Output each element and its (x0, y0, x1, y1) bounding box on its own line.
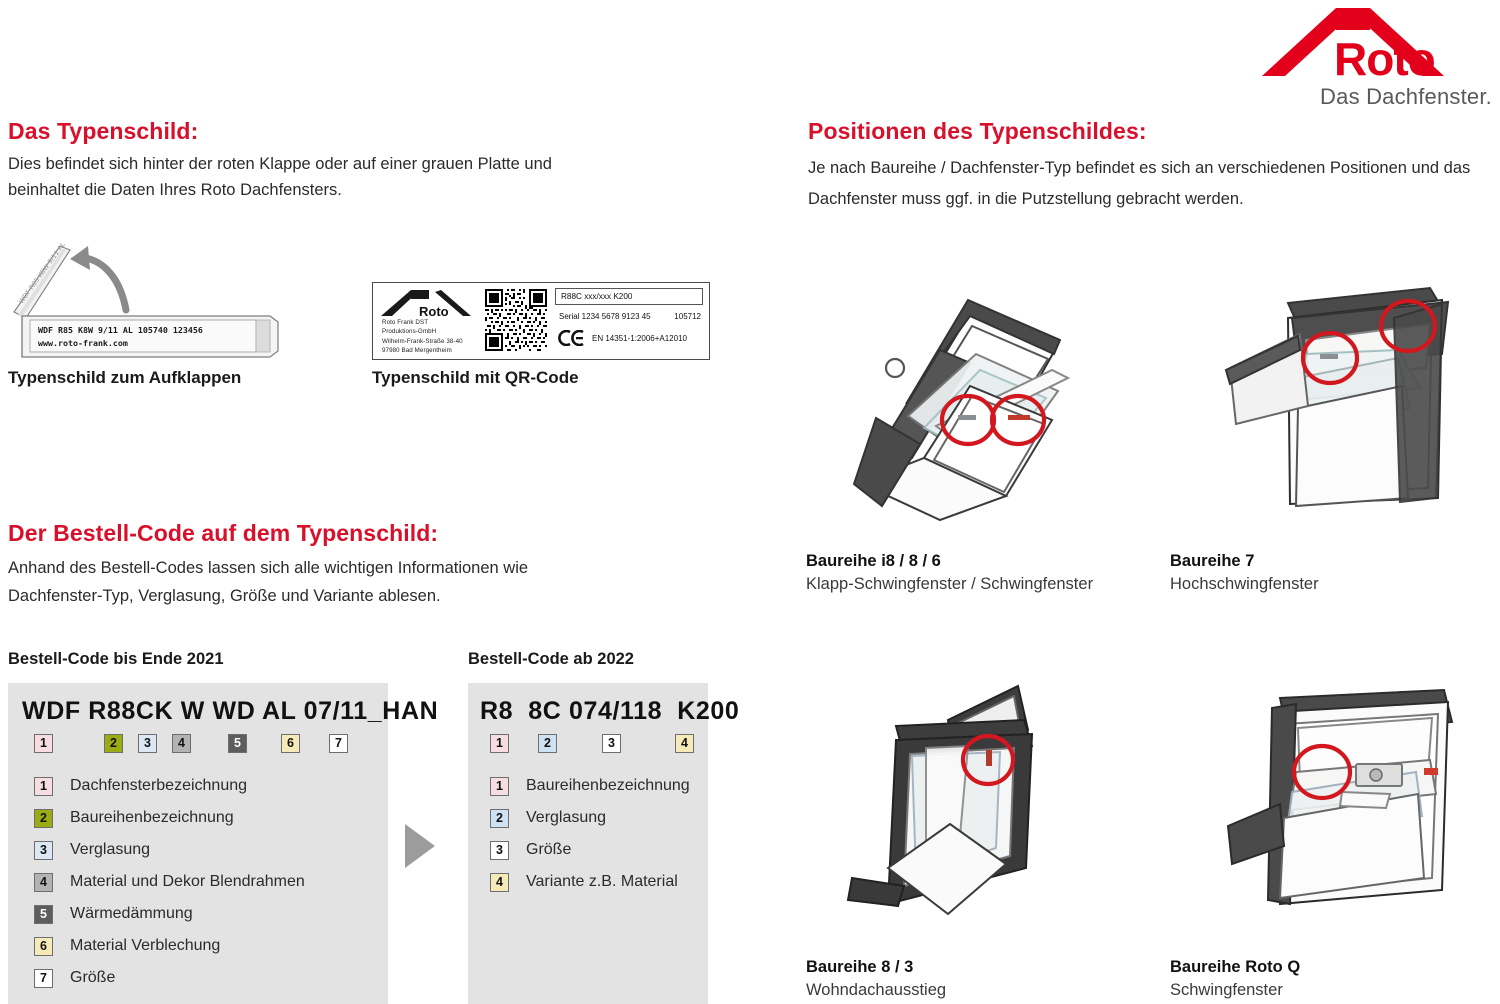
order-code-new-panel: R8 8C 074/118 K200 1234 1Baureihenbezeic… (468, 683, 708, 1004)
foldout-line2: www.roto-frank.com (38, 338, 128, 348)
qr-code-icon (485, 289, 547, 351)
photo-caption-3-title: Baureihe 8 / 3 (806, 958, 946, 977)
legend-label: Variante z.B. Material (526, 873, 678, 891)
legend-row: 3Verglasung (34, 834, 305, 866)
legend-row: 1Dachfensterbezeichnung (34, 770, 305, 802)
order-code-new-string: R8 8C 074/118 K200 (480, 697, 739, 726)
svg-text:WDF R85 K8W 9/11 AL: WDF R85 K8W 9/11 AL (17, 241, 67, 306)
legend-row: 6Material Verblechung (34, 930, 305, 962)
qr-plate-serial-number: 105712 (674, 312, 701, 321)
photo-caption-4-subtitle: Schwingfenster (1170, 981, 1300, 1000)
foldout-caption: Typenschild zum Aufklappen (8, 368, 241, 388)
legend-row: 4Variante z.B. Material (490, 866, 690, 898)
legend-label: Größe (70, 969, 115, 987)
qr-plate-caption: Typenschild mit QR-Code (372, 368, 579, 388)
legend-label: Verglasung (526, 809, 606, 827)
order-code-old-legend: 1Dachfensterbezeichnung2Baureihenbezeich… (34, 770, 305, 994)
legend-row: 2Verglasung (490, 802, 690, 834)
legend-badge-3: 3 (34, 841, 53, 860)
legend-badge-3: 3 (490, 841, 509, 860)
legend-badge-5: 5 (34, 905, 53, 924)
order-code-new-label: Bestell-Code ab 2022 (468, 650, 634, 669)
code-badge-6: 6 (281, 734, 300, 753)
legend-badge-6: 6 (34, 937, 53, 956)
foldout-nameplate-illustration: WDF R85 K8W 9/11 AL WDF R85 K8W 9/11 AL … (8, 238, 288, 368)
code-badge-3: 3 (138, 734, 157, 753)
photo-caption-1: Baureihe i8 / 8 / 6 Klapp-Schwingfenster… (806, 552, 1093, 594)
typenschild-paragraph: Dies befindet sich hinter der roten Klap… (8, 152, 608, 203)
ce-mark-icon (558, 330, 585, 346)
foldout-line1: WDF R85 K8W 9/11 AL 105740 123456 (38, 325, 203, 335)
legend-label: Material Verblechung (70, 937, 220, 955)
qr-nameplate-illustration: Roto Roto Frank DST Produktions-GmbH Wil… (372, 282, 710, 360)
window-photo-i8-8-6 (820, 258, 1110, 538)
order-code-new-legend: 1Baureihenbezeichnung2Verglasung3Größe4V… (490, 770, 690, 898)
legend-row: 2Baureihenbezeichnung (34, 802, 305, 834)
legend-label: Baureihenbezeichnung (70, 809, 234, 827)
positionen-paragraph: Je nach Baureihe / Dachfenster-Typ befin… (808, 153, 1488, 214)
photo-caption-2-subtitle: Hochschwingfenster (1170, 575, 1319, 594)
legend-badge-2: 2 (490, 809, 509, 828)
legend-label: Größe (526, 841, 571, 859)
transition-arrow-icon (405, 824, 435, 868)
photo-caption-1-title: Baureihe i8 / 8 / 6 (806, 552, 1093, 571)
legend-row: 1Baureihenbezeichnung (490, 770, 690, 802)
code-badge-7: 7 (329, 734, 348, 753)
legend-badge-7: 7 (34, 969, 53, 988)
code-badge-4: 4 (675, 734, 694, 753)
photo-caption-1-subtitle: Klapp-Schwingfenster / Schwingfenster (806, 575, 1093, 594)
legend-row: 4Material und Dekor Blendrahmen (34, 866, 305, 898)
photo-caption-4-title: Baureihe Roto Q (1170, 958, 1300, 977)
order-code-old-string: WDF R88CK W WD AL 07/11_HAN (22, 697, 438, 726)
window-photo-baureihe-8-3 (800, 668, 1080, 930)
positionen-heading: Positionen des Typenschildes: (808, 118, 1147, 145)
photo-caption-2: Baureihe 7 Hochschwingfenster (1170, 552, 1319, 594)
photo-caption-3: Baureihe 8 / 3 Wohndachausstieg (806, 958, 946, 1000)
qr-plate-logo: Roto Roto Frank DST Produktions-GmbH Wil… (379, 288, 477, 356)
qr-plate-logo-word: Roto (419, 304, 449, 319)
typenschild-heading: Das Typenschild: (8, 118, 198, 145)
code-badge-1: 1 (34, 734, 53, 753)
qr-plate-norm: EN 14351-1:2006+A12010 (592, 334, 687, 343)
qr-plate-serial-row: Serial 1234 5678 9123 45 105712 (559, 312, 705, 321)
bestellcode-heading: Der Bestell-Code auf dem Typenschild: (8, 520, 438, 547)
window-photo-roto-q (1180, 668, 1470, 930)
legend-badge-1: 1 (34, 777, 53, 796)
code-badge-3: 3 (602, 734, 621, 753)
roto-logo: Roto Das Dachfenster. (1262, 8, 1494, 112)
legend-badge-4: 4 (34, 873, 53, 892)
legend-row: 7Größe (34, 962, 305, 994)
code-badge-5: 5 (228, 734, 247, 753)
code-badge-4: 4 (172, 734, 191, 753)
qr-plate-code: R88C xxx/xxx K200 (555, 288, 703, 305)
legend-badge-1: 1 (490, 777, 509, 796)
legend-label: Dachfensterbezeichnung (70, 777, 247, 795)
legend-label: Material und Dekor Blendrahmen (70, 873, 305, 891)
logo-tagline: Das Dachfenster. (1320, 84, 1492, 110)
photo-caption-4: Baureihe Roto Q Schwingfenster (1170, 958, 1300, 1000)
code-badge-2: 2 (538, 734, 557, 753)
bestellcode-paragraph: Anhand des Bestell-Codes lassen sich all… (8, 554, 568, 610)
legend-badge-4: 4 (490, 873, 509, 892)
legend-badge-2: 2 (34, 809, 53, 828)
qr-plate-data: R88C xxx/xxx K200 Serial 1234 5678 9123 … (555, 288, 705, 356)
page-root: Roto Das Dachfenster. Das Typenschild: D… (0, 0, 1500, 1004)
order-code-old-panel: WDF R88CK W WD AL 07/11_HAN 1234567 1Dac… (8, 683, 388, 1004)
qr-plate-serial-label: Serial 1234 5678 9123 45 (559, 312, 651, 321)
code-badge-1: 1 (490, 734, 509, 753)
window-photo-baureihe-7 (1180, 258, 1470, 538)
legend-row: 5Wärmedämmung (34, 898, 305, 930)
qr-plate-ce-row: EN 14351-1:2006+A12010 (558, 330, 687, 346)
code-badge-2: 2 (104, 734, 123, 753)
logo-wordmark: Roto (1334, 36, 1435, 82)
qr-plate-address: Roto Frank DST Produktions-GmbH Wilhelm-… (382, 318, 463, 355)
photo-caption-3-subtitle: Wohndachausstieg (806, 981, 946, 1000)
legend-label: Baureihenbezeichnung (526, 777, 690, 795)
order-code-old-label: Bestell-Code bis Ende 2021 (8, 650, 224, 669)
photo-caption-2-title: Baureihe 7 (1170, 552, 1319, 571)
legend-label: Wärmedämmung (70, 905, 193, 923)
legend-label: Verglasung (70, 841, 150, 859)
legend-row: 3Größe (490, 834, 690, 866)
